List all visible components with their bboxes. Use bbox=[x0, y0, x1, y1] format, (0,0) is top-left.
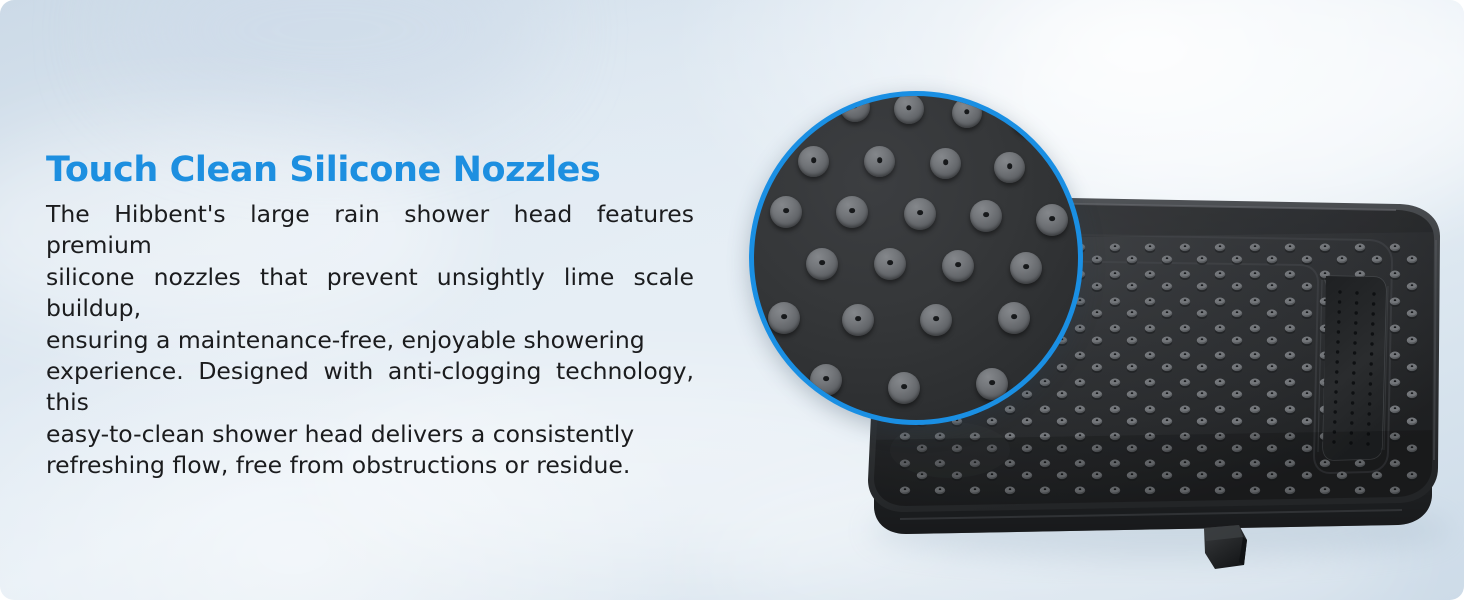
magnifier-content bbox=[754, 96, 1078, 420]
inlet-connector-nub bbox=[1204, 525, 1247, 569]
body-description: The Hibbent's large rain shower head fea… bbox=[46, 199, 694, 481]
body-seam-line bbox=[900, 510, 1402, 519]
body-line: silicone nozzles that prevent unsightly … bbox=[46, 262, 694, 325]
silicone-nozzle bbox=[952, 98, 982, 128]
silicone-nozzle bbox=[920, 304, 952, 336]
silicone-nozzle bbox=[976, 368, 1008, 400]
silicone-nozzle bbox=[888, 372, 920, 404]
silicone-nozzle bbox=[864, 146, 895, 177]
silicone-nozzle bbox=[1012, 104, 1042, 134]
silicone-nozzle bbox=[1010, 252, 1042, 284]
silicone-nozzle bbox=[798, 146, 829, 177]
page-title: Touch Clean Silicone Nozzles bbox=[46, 152, 706, 189]
silicone-nozzle bbox=[994, 152, 1025, 183]
body-line: The Hibbent's large rain shower head fea… bbox=[46, 199, 694, 262]
background-cloud bbox=[120, 0, 540, 130]
silicone-nozzle bbox=[874, 248, 906, 280]
body-line: easy-to-clean shower head delivers a con… bbox=[46, 419, 694, 450]
body-line: ensuring a maintenance-free, enjoyable s… bbox=[46, 325, 694, 356]
silicone-nozzle bbox=[842, 304, 874, 336]
product-feature-banner: Touch Clean Silicone Nozzles The Hibbent… bbox=[0, 0, 1464, 600]
perforated-strip-recess bbox=[1323, 276, 1386, 460]
silicone-nozzle bbox=[930, 148, 961, 179]
silicone-nozzle bbox=[836, 196, 868, 228]
body-line: refreshing flow, free from obstructions … bbox=[46, 450, 694, 481]
silicone-nozzle bbox=[768, 302, 800, 334]
text-column: Touch Clean Silicone Nozzles The Hibbent… bbox=[46, 152, 706, 481]
perforation-dots bbox=[1332, 290, 1375, 445]
silicone-nozzle bbox=[1036, 204, 1068, 236]
silicone-nozzle bbox=[970, 200, 1002, 232]
silicone-nozzle bbox=[810, 364, 842, 396]
body-line: experience. Designed with anti-clogging … bbox=[46, 356, 694, 419]
silicone-nozzle bbox=[904, 198, 936, 230]
silicone-nozzle bbox=[894, 94, 924, 124]
silicone-nozzle bbox=[840, 92, 870, 122]
silicone-nozzle bbox=[806, 248, 838, 280]
background-cloud bbox=[700, 470, 1400, 600]
magnifier-nozzle-detail bbox=[749, 91, 1083, 425]
silicone-nozzle bbox=[770, 196, 802, 228]
silicone-nozzle bbox=[942, 250, 974, 282]
shower-head-side-wall bbox=[874, 466, 1432, 534]
silicone-nozzle bbox=[998, 302, 1030, 334]
